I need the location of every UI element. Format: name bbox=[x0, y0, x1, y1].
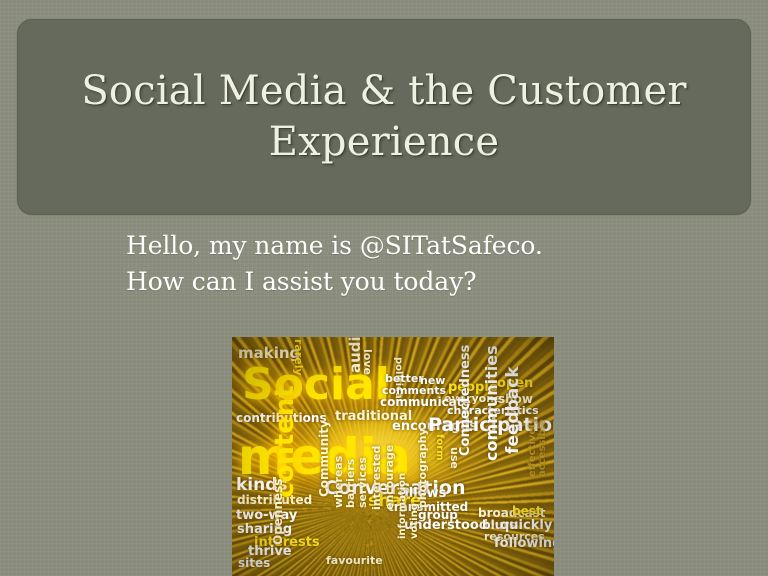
presentation-slide: Social Media & the Customer Experience H… bbox=[0, 0, 768, 576]
subtitle-line-2: How can I assist you today? bbox=[126, 264, 686, 300]
image-vignette bbox=[232, 337, 554, 576]
subtitle-block: Hello, my name is @SITatSafeco. How can … bbox=[126, 228, 686, 299]
word-cloud-canvas: makingrarelySocialloveaudiencepoliticalb… bbox=[232, 337, 554, 576]
social-media-word-cloud-image: makingrarelySocialloveaudiencepoliticalb… bbox=[232, 337, 554, 576]
slide-title: Social Media & the Customer Experience bbox=[65, 66, 703, 168]
subtitle-line-1: Hello, my name is @SITatSafeco. bbox=[126, 228, 686, 264]
title-plaque: Social Media & the Customer Experience bbox=[16, 18, 752, 216]
